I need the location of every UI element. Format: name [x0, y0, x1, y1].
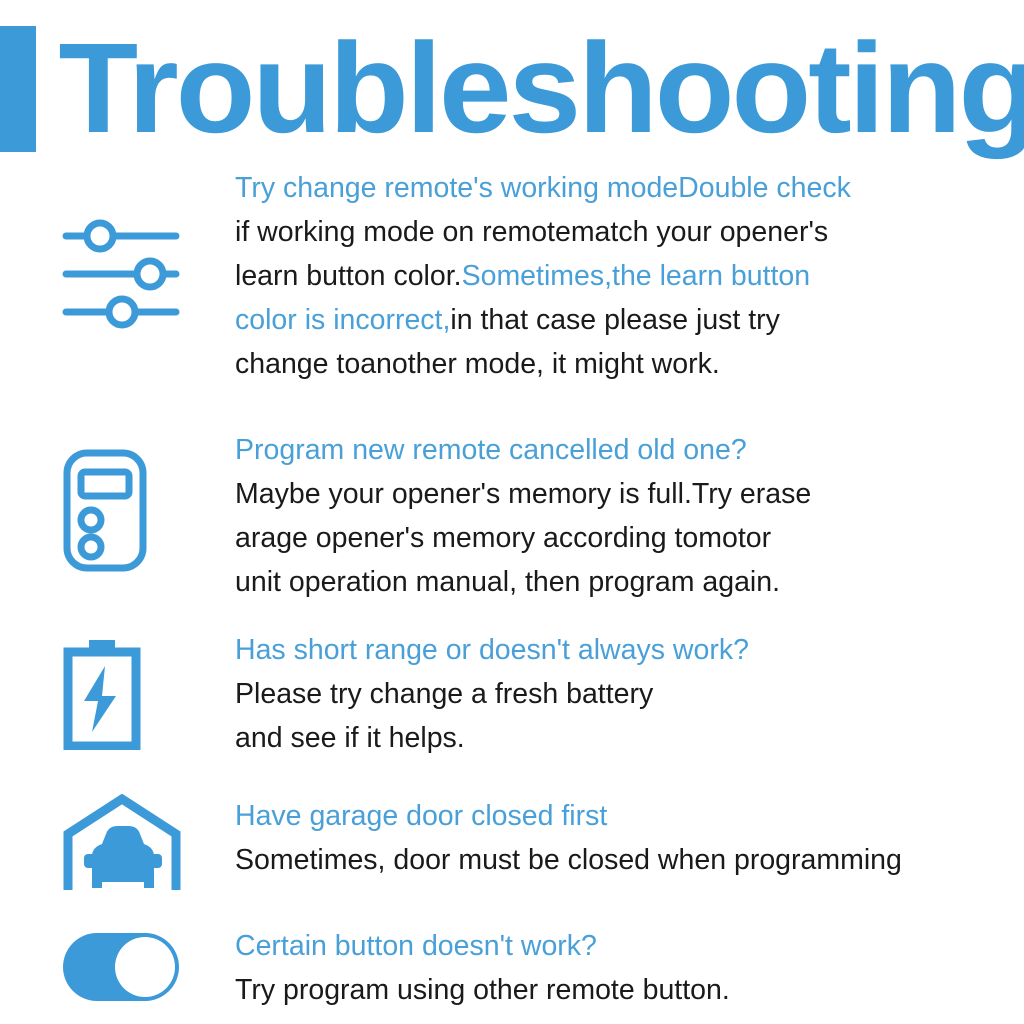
- troubleshooting-item-program: Program new remote cancelled old one? Ma…: [0, 428, 1024, 604]
- text-run: Sometimes, door must be closed when prog…: [235, 844, 902, 876]
- text-line: color is incorrect,in that case please j…: [235, 298, 1022, 342]
- text-block: Certain button doesn't work? Try program…: [235, 924, 1024, 1012]
- text-line: Certain button doesn't work?: [235, 924, 1022, 968]
- troubleshooting-item-mode: Try change remote's working modeDouble c…: [0, 166, 1024, 386]
- text-line: arage opener's memory according tomotor: [235, 516, 1022, 560]
- text-run: unit operation manual, then program agai…: [235, 566, 780, 598]
- text-line: unit operation manual, then program agai…: [235, 560, 1022, 604]
- battery-bolt-icon: [62, 638, 142, 750]
- text-run: learn button color.: [235, 260, 462, 292]
- text-block: Has short range or doesn't always work? …: [235, 628, 1024, 760]
- text-line: learn button color.Sometimes,the learn b…: [235, 254, 1022, 298]
- troubleshooting-item-button: Certain button doesn't work? Try program…: [0, 924, 1024, 1012]
- text-block: Try change remote's working modeDouble c…: [235, 166, 1024, 386]
- text-line: Has short range or doesn't always work?: [235, 628, 1022, 672]
- text-run: arage opener's memory according tomotor: [235, 522, 771, 554]
- toggle-switch-icon: [62, 932, 180, 1002]
- page-title: Troubleshooting: [36, 26, 1024, 152]
- text-run: Try change remote's working modeDouble c…: [235, 172, 851, 204]
- text-run: Please try change a fresh battery: [235, 678, 653, 710]
- text-block: Have garage door closed first Sometimes,…: [235, 794, 1024, 882]
- icon-cell: [0, 166, 235, 330]
- text-run: and see if it helps.: [235, 722, 465, 754]
- text-run: if working mode on remotematch your open…: [235, 216, 828, 248]
- garage-car-icon: [62, 794, 182, 892]
- text-line: Try change remote's working modeDouble c…: [235, 166, 1022, 210]
- text-run: Maybe your opener's memory is full.Try e…: [235, 478, 811, 510]
- text-run: in that case please just try: [450, 304, 780, 336]
- text-line: Maybe your opener's memory is full.Try e…: [235, 472, 1022, 516]
- text-run: Try program using other remote button.: [235, 974, 730, 1006]
- text-line: Please try change a fresh battery: [235, 672, 1022, 716]
- text-run: color is incorrect,: [235, 304, 450, 336]
- title-accent-bar: [0, 26, 36, 152]
- text-line: Have garage door closed first: [235, 794, 1022, 838]
- text-line: change toanother mode, it might work.: [235, 342, 1022, 386]
- sliders-icon: [62, 218, 180, 330]
- troubleshooting-item-garage: Have garage door closed first Sometimes,…: [0, 794, 1024, 892]
- text-line: and see if it helps.: [235, 716, 1022, 760]
- text-run: change toanother mode, it might work.: [235, 348, 720, 380]
- text-block: Program new remote cancelled old one? Ma…: [235, 428, 1024, 604]
- text-line: Program new remote cancelled old one?: [235, 428, 1022, 472]
- text-line: Try program using other remote button.: [235, 968, 1022, 1012]
- icon-cell: [0, 794, 235, 892]
- troubleshooting-item-battery: Has short range or doesn't always work? …: [0, 628, 1024, 760]
- remote-icon: [62, 448, 148, 573]
- text-run: Sometimes,the learn button: [462, 260, 811, 292]
- icon-cell: [0, 428, 235, 573]
- text-line: if working mode on remotematch your open…: [235, 210, 1022, 254]
- icon-cell: [0, 628, 235, 750]
- text-line: Sometimes, door must be closed when prog…: [235, 838, 1022, 882]
- page-header: Troubleshooting: [0, 26, 1024, 152]
- icon-cell: [0, 924, 235, 1002]
